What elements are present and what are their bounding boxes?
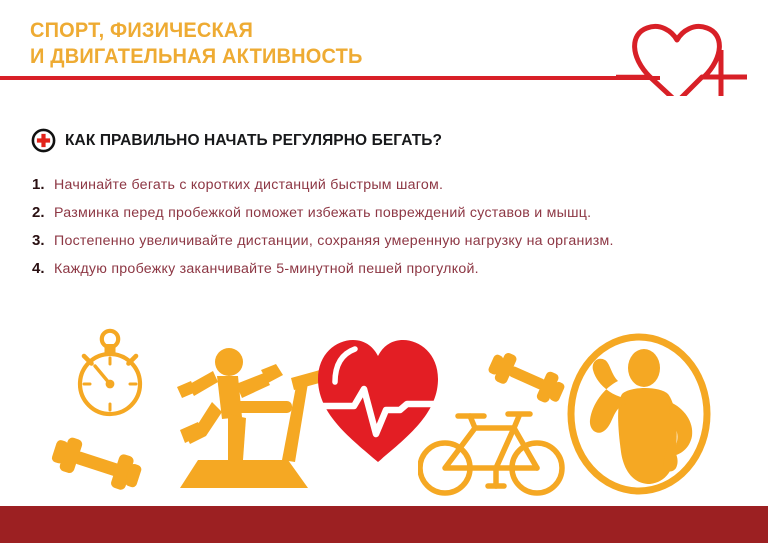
tips-list: 1. Начинайте бегать с коротких дистанций… (32, 176, 742, 288)
poster-canvas: СПОРТ, ФИЗИЧЕСКАЯ И ДВИГАТЕЛЬНАЯ АКТИВНО… (0, 0, 768, 543)
list-item-number: 3. (32, 232, 47, 249)
heart-outline-cross-icon (616, 16, 768, 96)
list-item-number: 2. (32, 204, 47, 221)
section-heading-text: КАК ПРАВИЛЬНО НАЧАТЬ РЕГУЛЯРНО БЕГАТЬ? (65, 132, 442, 150)
list-item-text: Каждую пробежку заканчивайте 5-минутной … (54, 261, 479, 277)
page-title: СПОРТ, ФИЗИЧЕСКАЯ И ДВИГАТЕЛЬНАЯ АКТИВНО… (30, 17, 588, 69)
stopwatch-icon (62, 328, 158, 424)
list-item: 3. Постепенно увеличивайте дистанции, со… (32, 232, 742, 260)
footer-bar (0, 506, 768, 543)
list-item: 4. Каждую пробежку заканчивайте 5-минутн… (32, 260, 742, 288)
list-item-text: Разминка перед пробежкой поможет избежат… (54, 205, 591, 221)
bicycle-icon (418, 404, 566, 498)
list-item-text: Начинайте бегать с коротких дистанций бы… (54, 177, 443, 193)
illustration-strip (0, 312, 768, 507)
section-heading: КАК ПРАВИЛЬНО НАЧАТЬ РЕГУЛЯРНО БЕГАТЬ? (31, 128, 442, 153)
treadmill-runner-icon (160, 340, 325, 498)
circled-red-cross-icon (31, 128, 56, 153)
list-item-text: Постепенно увеличивайте дистанции, сохра… (54, 233, 614, 249)
header-divider-rule (0, 76, 660, 80)
list-item: 2. Разминка перед пробежкой поможет избе… (32, 204, 742, 232)
dumbbell-icon (44, 430, 149, 498)
bodybuilder-circle-icon (564, 332, 714, 497)
list-item-number: 4. (32, 260, 47, 277)
list-item: 1. Начинайте бегать с коротких дистанций… (32, 176, 742, 204)
poster-header: СПОРТ, ФИЗИЧЕСКАЯ И ДВИГАТЕЛЬНАЯ АКТИВНО… (0, 0, 768, 95)
list-item-number: 1. (32, 176, 47, 193)
